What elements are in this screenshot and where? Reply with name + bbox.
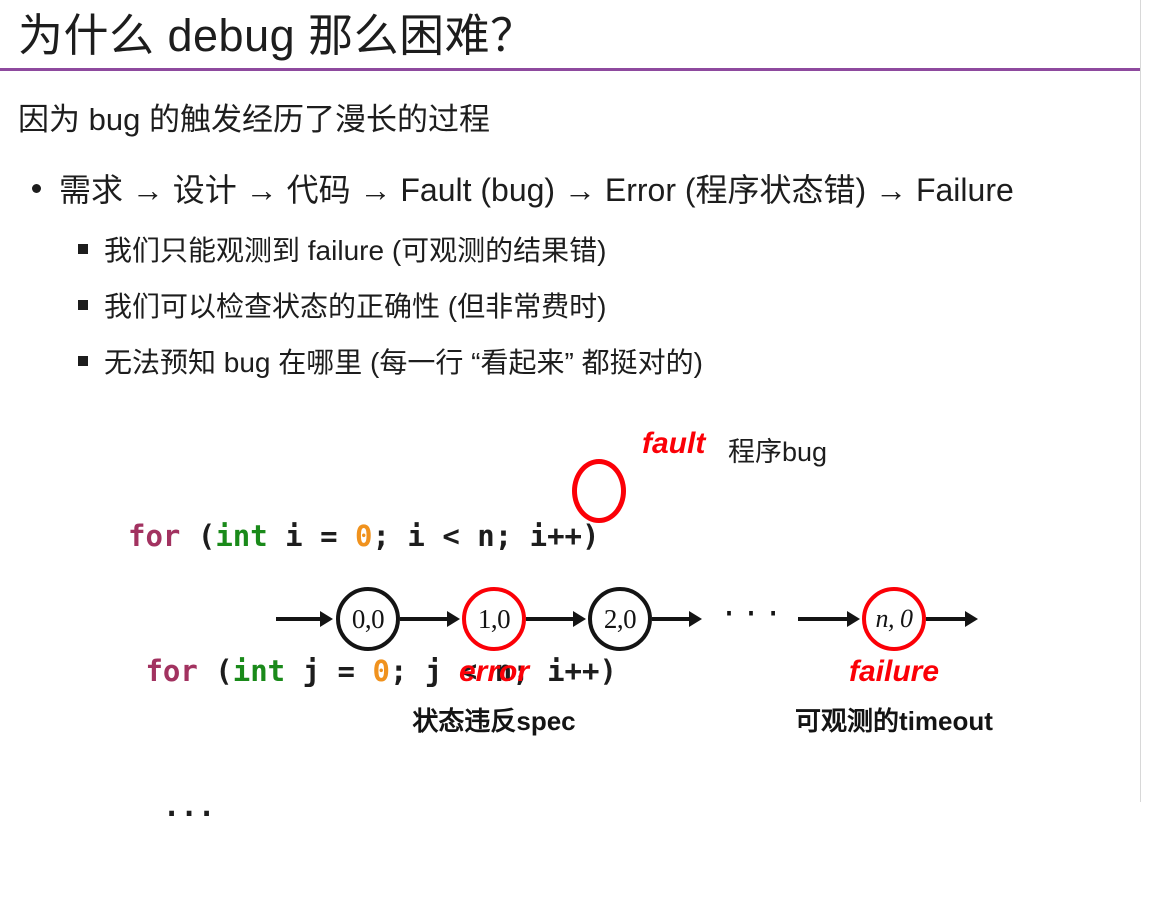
- code-type: int: [215, 519, 267, 553]
- slide-canvas: 为什么 debug 那么困难？ 因为 bug 的触发经历了漫长的过程 需求 → …: [0, 0, 1141, 802]
- bullet-level2-label: 我们只能观测到 failure (可观测的结果错): [104, 232, 606, 270]
- arrowhead-icon: [447, 611, 460, 627]
- state-node: 2,0: [588, 587, 652, 651]
- fault-annotation-note: 程序bug: [728, 430, 827, 469]
- edge-1-2: [526, 617, 576, 621]
- edge-n-out: [926, 617, 968, 621]
- code-punct: (: [180, 519, 215, 553]
- state-node-failure: n, 0: [862, 587, 926, 651]
- code-text: ; i < n; i++): [372, 519, 599, 553]
- bullet-level2: 我们只能观测到 failure (可观测的结果错): [78, 232, 606, 270]
- bullet-level1: 需求 → 设计 → 代码 → Fault (bug) → Error (程序状态…: [32, 168, 1014, 212]
- bullet-level2: 我们可以检查状态的正确性 (但非常费时): [78, 288, 606, 326]
- fault-annotation-label: fault: [642, 427, 705, 461]
- error-annotation-caption: 状态违反spec: [384, 701, 604, 738]
- bullet-square-icon: [78, 244, 88, 254]
- arrowhead-icon: [689, 611, 702, 627]
- code-number: 0: [355, 519, 372, 553]
- arrowhead-icon: [320, 611, 333, 627]
- error-annotation-label: error: [442, 655, 546, 689]
- state-node-error: 1,0: [462, 587, 526, 651]
- bullet-dot-icon: [32, 184, 41, 193]
- bullet-level1-label: 需求 → 设计 → 代码 → Fault (bug) → Error (程序状态…: [59, 168, 1014, 212]
- state-node-label: 2,0: [604, 604, 636, 635]
- state-node-label: 0,0: [352, 604, 384, 635]
- arrowhead-icon: [965, 611, 978, 627]
- bullet-square-icon: [78, 300, 88, 310]
- lead-paragraph: 因为 bug 的触发经历了漫长的过程: [18, 100, 490, 140]
- code-ellipsis: ...: [163, 789, 215, 823]
- code-keyword: for: [145, 654, 197, 688]
- diagram-ellipsis: ···: [720, 597, 786, 632]
- title-divider: [0, 68, 1140, 71]
- state-node: 0,0: [336, 587, 400, 651]
- code-keyword: for: [128, 519, 180, 553]
- bullet-level2: 无法预知 bug 在哪里 (每一行 “看起来” 都挺对的): [78, 344, 703, 382]
- code-punct: (: [198, 654, 233, 688]
- failure-annotation-label: failure: [834, 655, 954, 689]
- bullet-square-icon: [78, 356, 88, 366]
- edge-0-1: [400, 617, 450, 621]
- edge-2-out: [652, 617, 692, 621]
- edge-in-n: [798, 617, 850, 621]
- state-node-label: 1,0: [478, 604, 510, 635]
- bullet-level2-label: 我们可以检查状态的正确性 (但非常费时): [104, 288, 606, 326]
- state-transition-diagram: 0,0 1,0 2,0 ··· n, 0 error 状态违反spec fail…: [270, 575, 1010, 755]
- code-text: i =: [268, 519, 355, 553]
- arrowhead-icon: [847, 611, 860, 627]
- code-line-3: ...: [128, 784, 617, 829]
- edge-incoming: [276, 617, 324, 621]
- code-line-1: for (int i = 0; i < n; i++): [128, 514, 617, 559]
- state-node-label: n, 0: [876, 604, 913, 634]
- arrowhead-icon: [573, 611, 586, 627]
- failure-annotation-caption: 可观测的timeout: [784, 701, 1004, 738]
- bullet-level2-label: 无法预知 bug 在哪里 (每一行 “看起来” 都挺对的): [104, 344, 703, 382]
- page-title: 为什么 debug 那么困难？: [18, 8, 536, 64]
- red-circle-highlight-icon: [572, 459, 626, 523]
